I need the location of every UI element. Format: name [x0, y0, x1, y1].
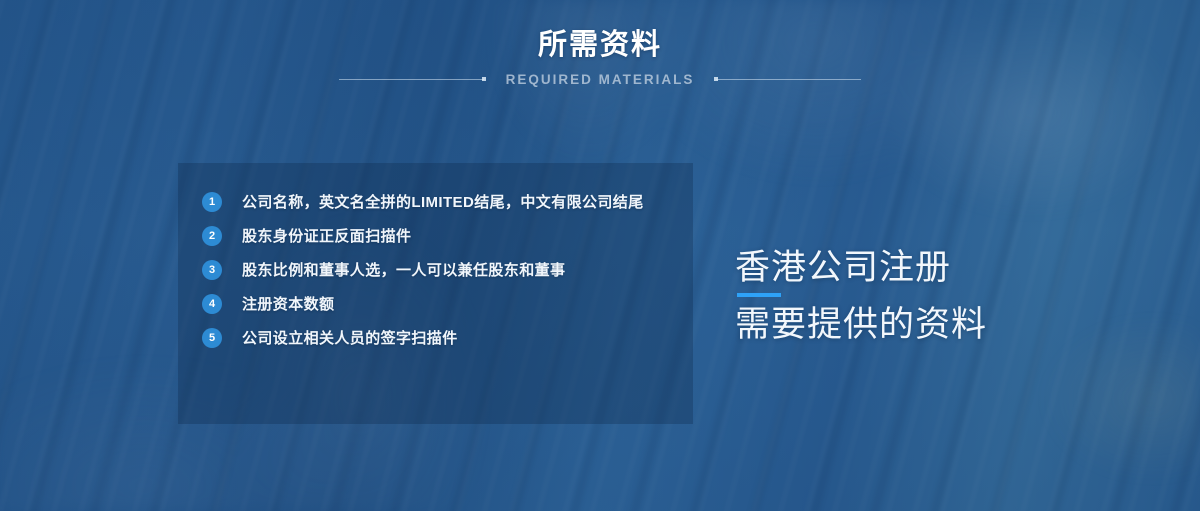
item-text: 股东比例和董事人选，一人可以兼任股东和董事: [242, 257, 565, 284]
item-text: 公司名称，英文名全拼的LIMITED结尾，中文有限公司结尾: [242, 189, 644, 216]
list-item: 1 公司名称，英文名全拼的LIMITED结尾，中文有限公司结尾: [202, 189, 669, 216]
decorative-line-right: [716, 79, 861, 80]
list-item: 5 公司设立相关人员的签字扫描件: [202, 325, 669, 352]
list-item: 2 股东身份证正反面扫描件: [202, 223, 669, 250]
materials-panel: 1 公司名称，英文名全拼的LIMITED结尾，中文有限公司结尾 2 股东身份证正…: [178, 163, 693, 424]
required-materials-banner: 所需资料 REQUIRED MATERIALS 1 公司名称，英文名全拼的LIM…: [0, 0, 1200, 511]
item-text: 公司设立相关人员的签字扫描件: [242, 325, 458, 352]
right-heading-block: 香港公司注册 需要提供的资料: [735, 246, 987, 347]
item-text: 注册资本数额: [242, 291, 334, 318]
subtitle-row: REQUIRED MATERIALS: [0, 72, 1200, 87]
right-heading-line-1: 香港公司注册: [735, 246, 987, 290]
banner-header: 所需资料 REQUIRED MATERIALS: [0, 28, 1200, 87]
item-number-badge: 4: [202, 294, 222, 314]
list-item: 4 注册资本数额: [202, 291, 669, 318]
item-number-badge: 5: [202, 328, 222, 348]
item-number-badge: 1: [202, 192, 222, 212]
page-title: 所需资料: [0, 28, 1200, 63]
decorative-line-left: [339, 79, 484, 80]
list-item: 3 股东比例和董事人选，一人可以兼任股东和董事: [202, 257, 669, 284]
materials-list: 1 公司名称，英文名全拼的LIMITED结尾，中文有限公司结尾 2 股东身份证正…: [202, 189, 669, 352]
item-number-badge: 2: [202, 226, 222, 246]
right-heading-line-2: 需要提供的资料: [735, 303, 987, 347]
item-number-badge: 3: [202, 260, 222, 280]
page-subtitle: REQUIRED MATERIALS: [506, 72, 695, 87]
heading-divider-rule: [737, 293, 781, 297]
item-text: 股东身份证正反面扫描件: [242, 223, 411, 250]
